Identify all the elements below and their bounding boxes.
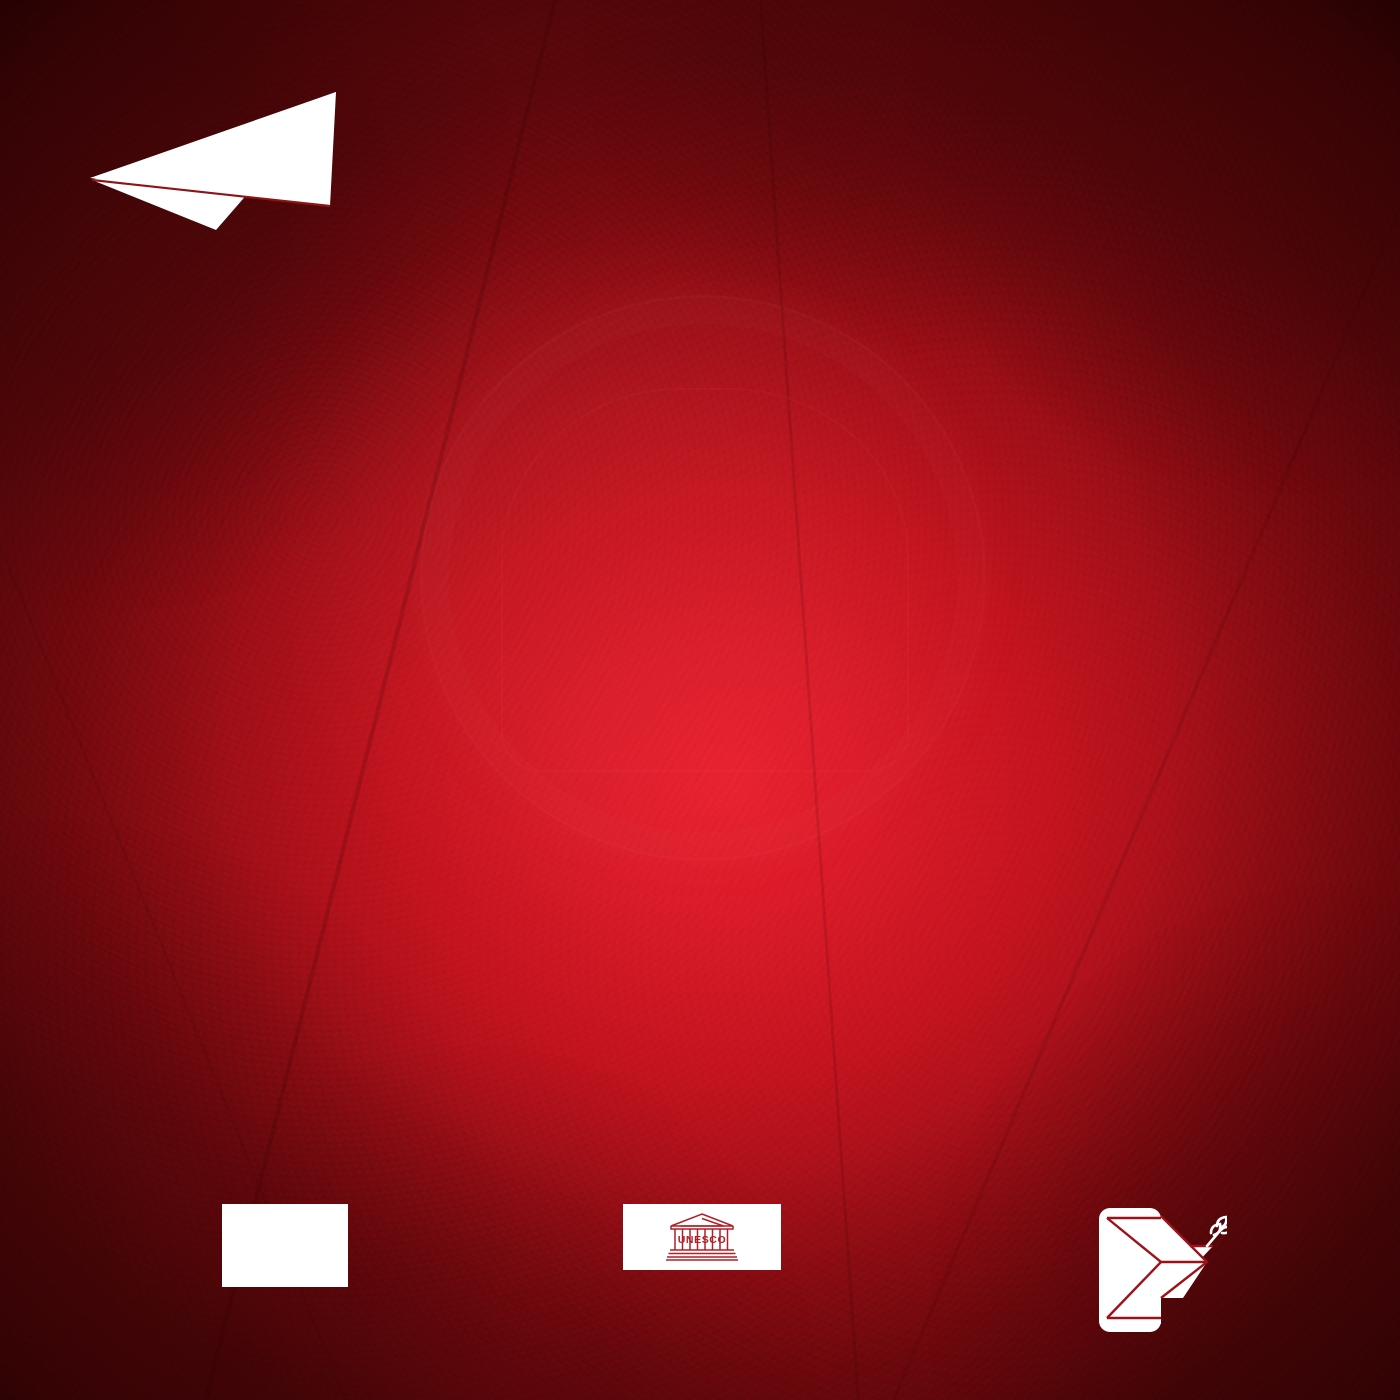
- article19-logo[interactable]: [78, 80, 354, 240]
- eu-flag-icon: [222, 1204, 348, 1287]
- poster-canvas: UNESCO: [0, 0, 1400, 1400]
- smp-dove-phone-icon: [1095, 1206, 1227, 1334]
- social-media-4-peace-logo[interactable]: [985, 1206, 1225, 1336]
- unesco-emblem-box: UNESCO: [623, 1204, 781, 1270]
- unesco-temple-icon: UNESCO: [666, 1212, 738, 1262]
- article19-plane-icon: [78, 80, 354, 240]
- unesco-emblem-letters: UNESCO: [678, 1234, 727, 1246]
- unesco-logo[interactable]: UNESCO: [623, 1204, 781, 1282]
- european-union-logo[interactable]: [222, 1204, 348, 1298]
- partner-logo-strip: UNESCO: [0, 1204, 1400, 1364]
